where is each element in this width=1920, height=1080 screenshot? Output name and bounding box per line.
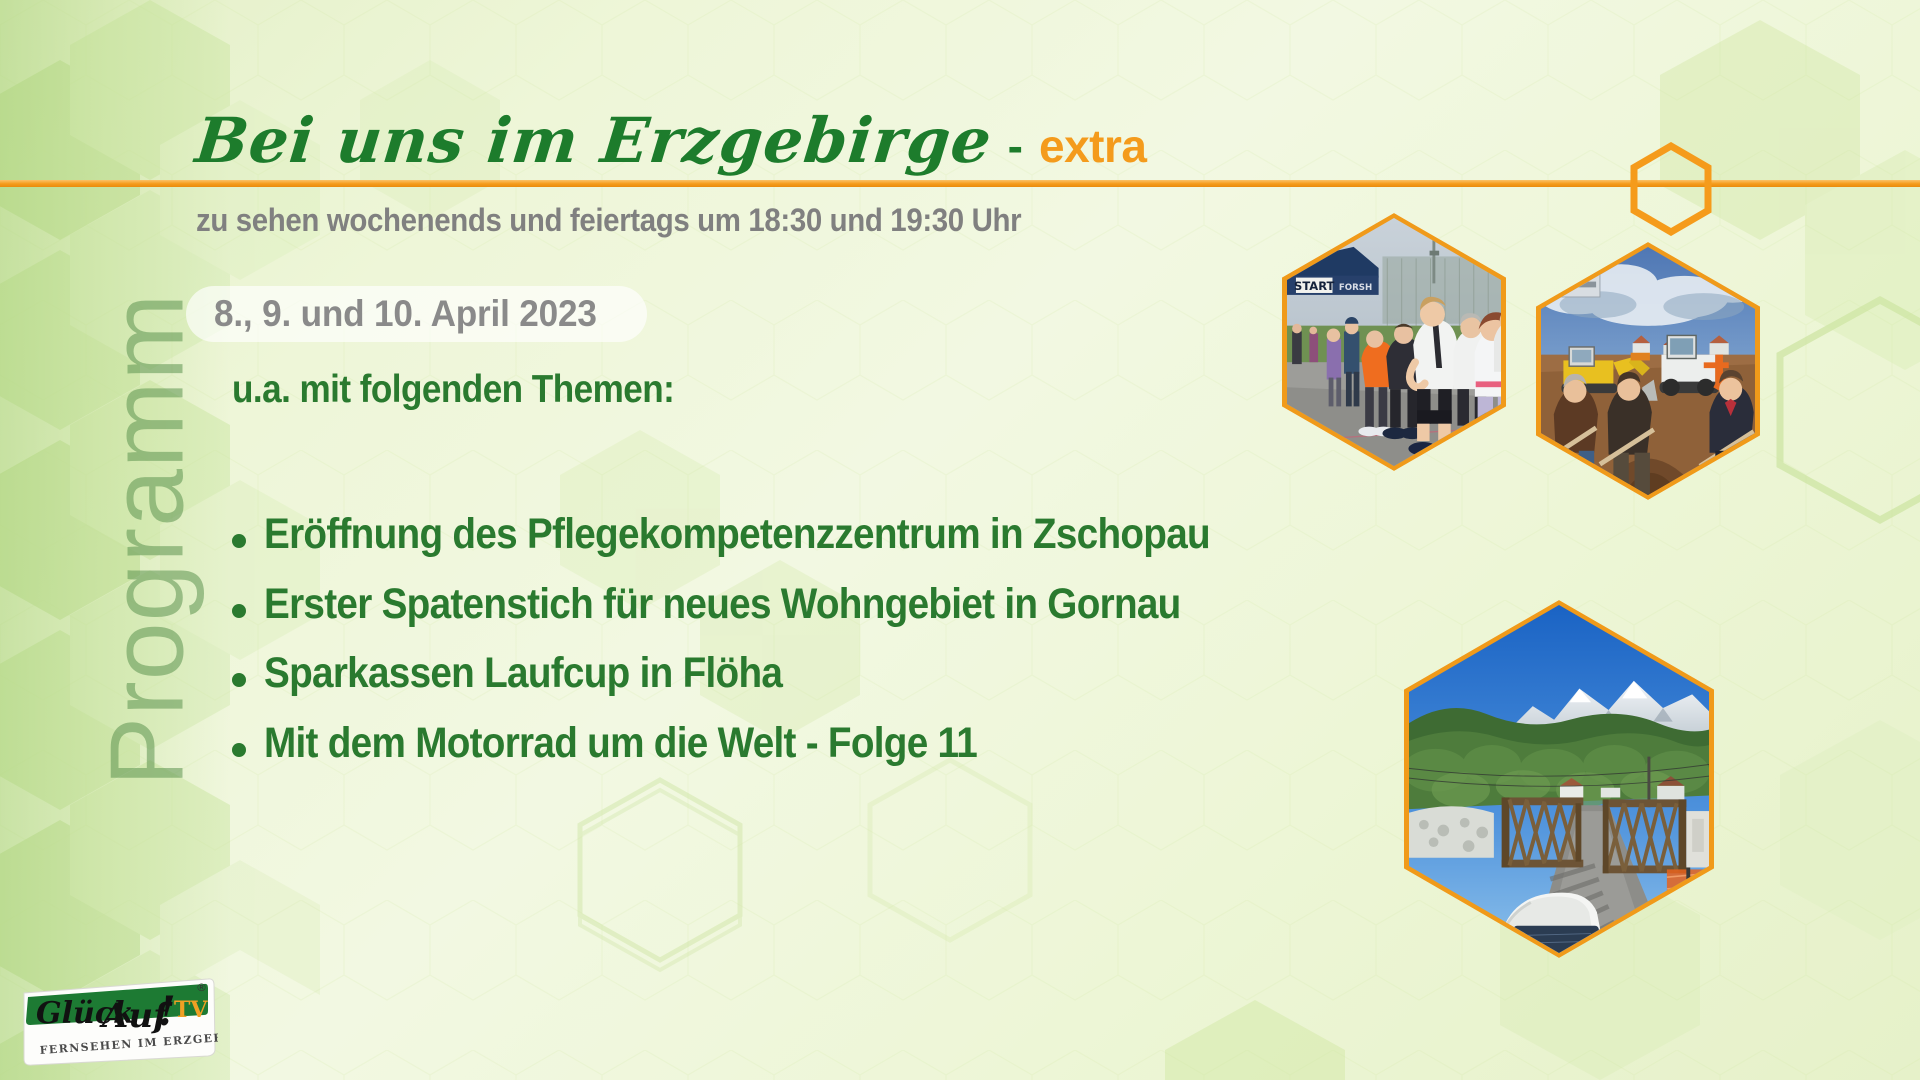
bullet-dot-icon: [232, 604, 246, 618]
broadcast-times-subtitle: zu sehen wochenends und feiertags um 18:…: [196, 202, 1021, 239]
list-item: Sparkassen Laufcup in Flöha: [232, 651, 1352, 697]
title-extra-text: extra: [1039, 119, 1146, 173]
bullet-dot-icon: [232, 743, 246, 757]
svg-text:START: START: [1294, 279, 1335, 293]
list-item: Erster Spatenstich für neues Wohngebiet …: [232, 582, 1352, 628]
date-text: 8., 9. und 10. April 2023: [214, 293, 597, 335]
glueckauf-tv-logo: Glück Auf ! TV ® FERNSEHEN IM ERZGEBIRGE: [18, 975, 218, 1067]
bullet-dot-icon: [232, 673, 246, 687]
topic-label: Sparkassen Laufcup in Flöha: [264, 651, 782, 697]
title-dash: -: [1008, 119, 1023, 173]
photo-image: [1541, 247, 1755, 495]
photo-image: START FORSH: [1287, 218, 1501, 466]
photo-image: [1409, 605, 1709, 953]
date-badge: 8., 9. und 10. April 2023: [186, 286, 647, 342]
orange-hexagon-outline-icon: [1630, 142, 1712, 236]
logo-tv-text: TV: [174, 997, 208, 1023]
svg-text:FORSH: FORSH: [1339, 283, 1372, 293]
slide-title: Bei uns im Erzgebirge - extra: [196, 104, 1146, 177]
list-item: Mit dem Motorrad um die Welt - Folge 11: [232, 721, 1352, 767]
photo-truss-bridge: [1404, 600, 1714, 958]
photo-groundbreaking: [1536, 242, 1760, 500]
topics-list: Eröffnung des Pflegekompetenzzentrum in …: [232, 512, 1352, 790]
bullet-dot-icon: [232, 534, 246, 548]
photo-race-start: START FORSH: [1282, 213, 1506, 471]
topics-intro-label: u.a. mit folgenden Themen:: [232, 368, 674, 412]
topic-label: Mit dem Motorrad um die Welt - Folge 11: [264, 721, 977, 767]
title-main-text: Bei uns im Erzgebirge: [192, 104, 995, 177]
logo-registered-mark: ®: [196, 981, 207, 994]
topic-label: Erster Spatenstich für neues Wohngebiet …: [264, 582, 1181, 628]
list-item: Eröffnung des Pflegekompetenzzentrum in …: [232, 512, 1352, 558]
logo-exclamation: !: [158, 988, 176, 1035]
topic-label: Eröffnung des Pflegekompetenzzentrum in …: [264, 512, 1210, 558]
broadcast-program-slide: Programm Bei uns im Erzgebirge - extra z…: [0, 0, 1920, 1080]
